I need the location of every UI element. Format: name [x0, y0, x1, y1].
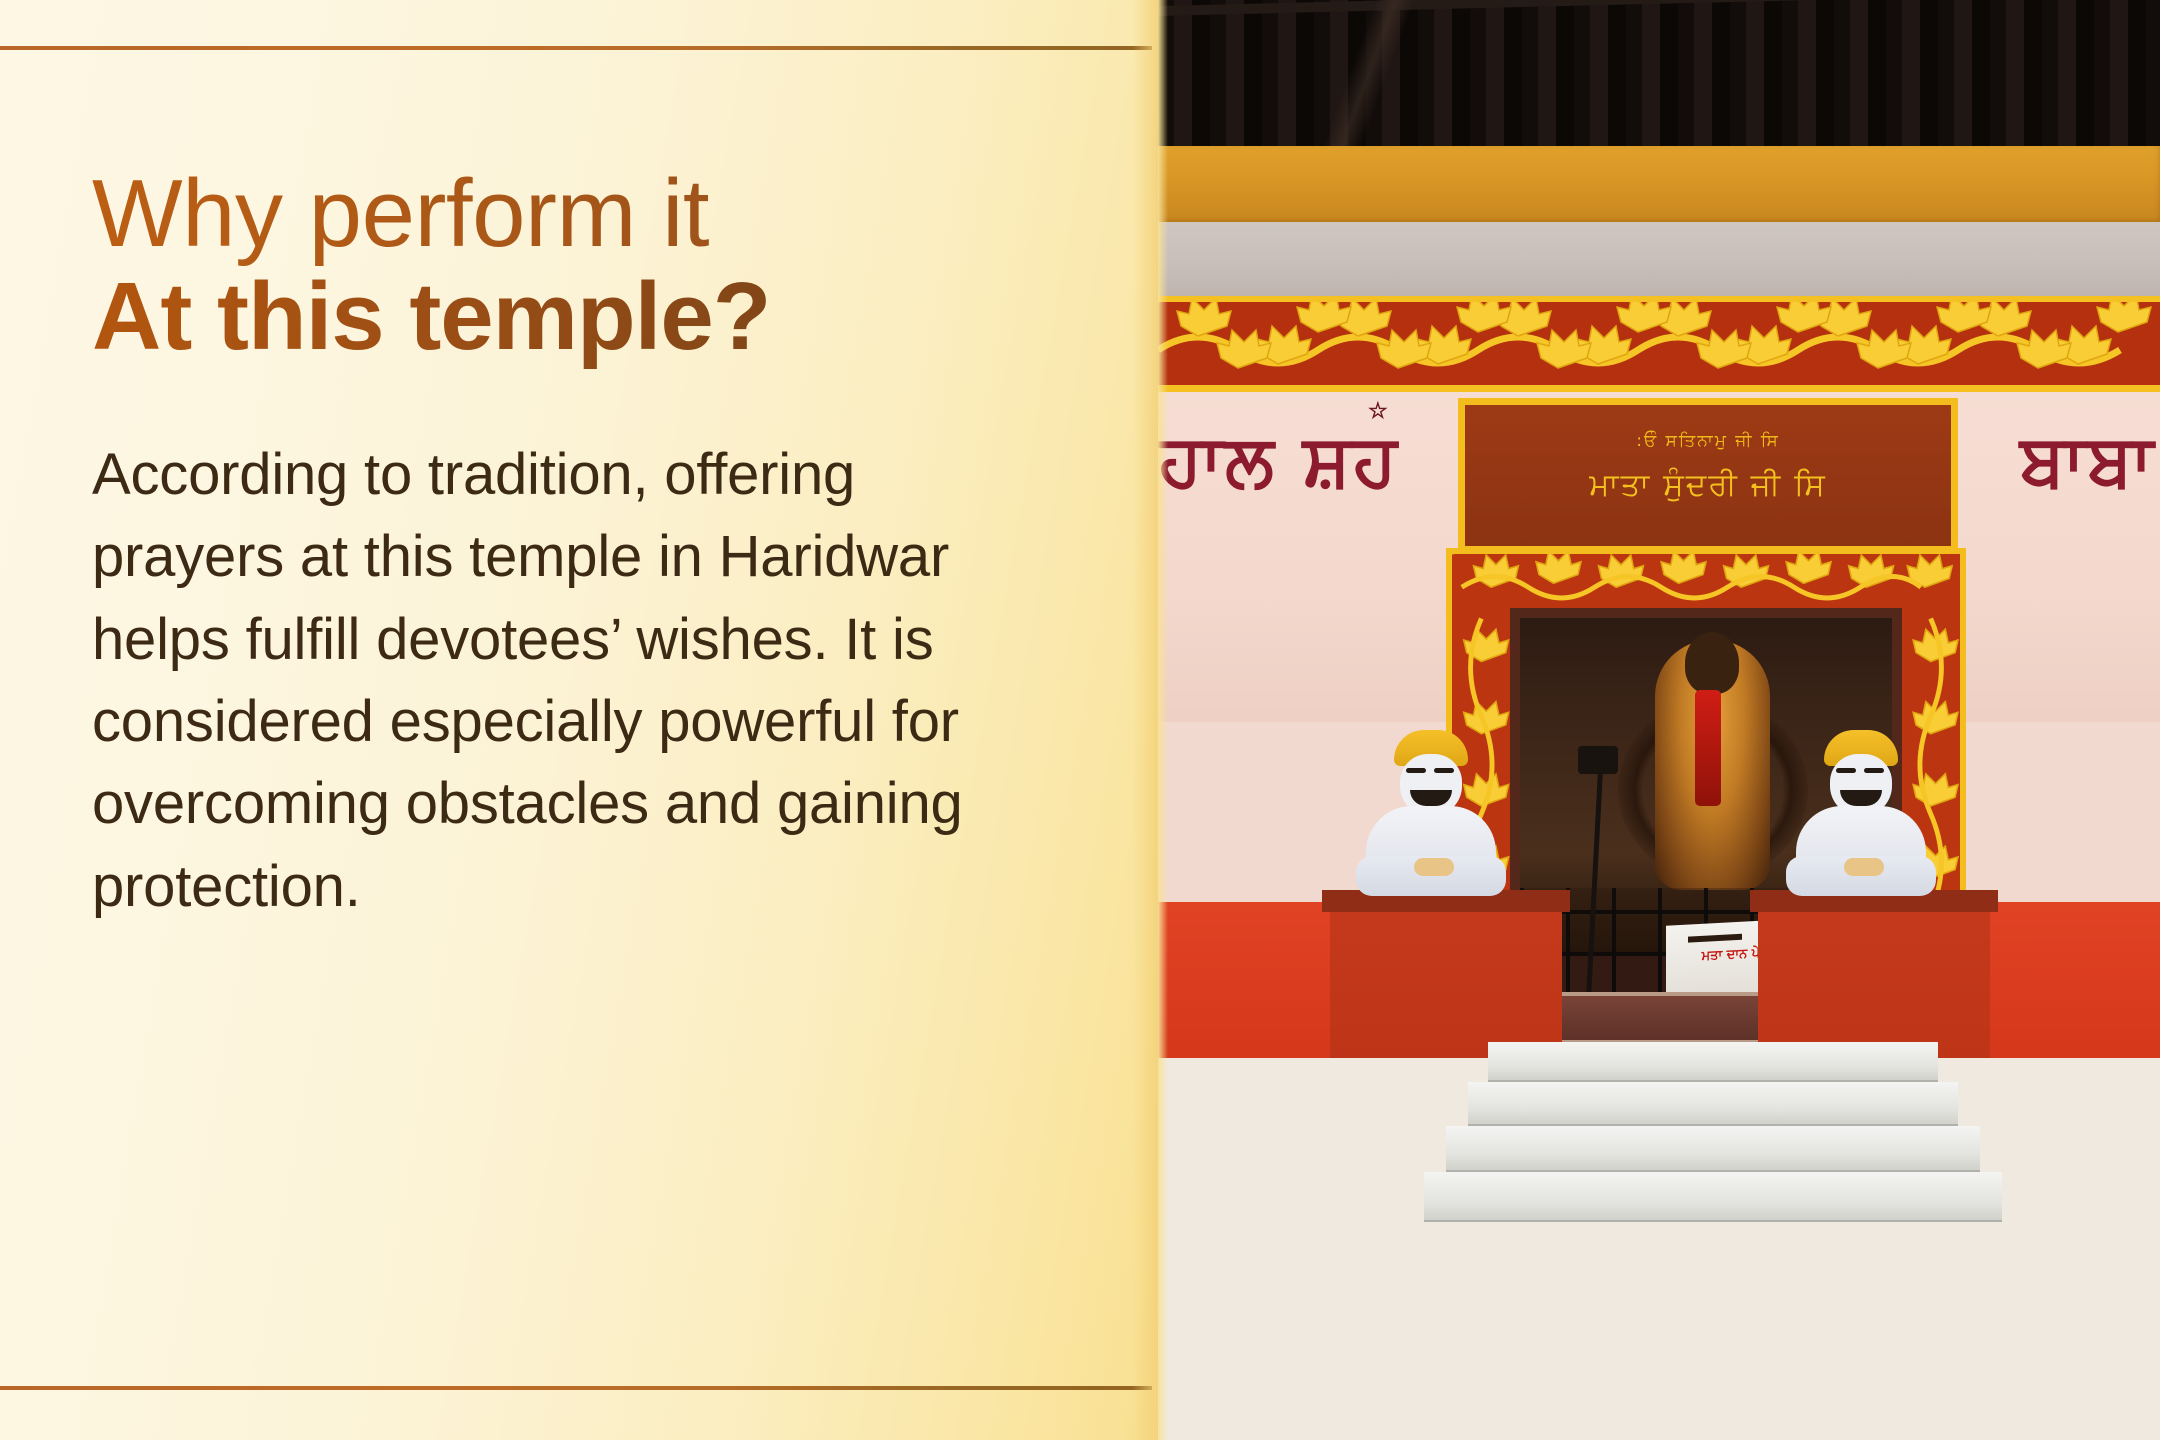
- seated-statue-right: [1786, 730, 1936, 895]
- moustache-icon: [1840, 790, 1882, 806]
- wall-script-right: ਬਾਬਾ: [2020, 418, 2160, 504]
- camera-icon: [1578, 746, 1618, 774]
- step-4: [1424, 1172, 2002, 1222]
- eyebrow-right-icon: [1434, 768, 1454, 773]
- eyebrow-left-icon: [1406, 768, 1426, 773]
- step-1: [1488, 1042, 1938, 1082]
- wall-script-diacritic: ☆: [1368, 398, 1388, 424]
- body-paragraph: According to tradition, offering prayers…: [92, 434, 972, 928]
- idol-red-scarf: [1695, 690, 1721, 806]
- statue-hands: [1844, 858, 1884, 876]
- wall-script-left: ਨਿਹਾਲ ਸ਼ਹ: [1158, 418, 1448, 504]
- slide-canvas: Why perform it At this temple? According…: [0, 0, 2160, 1440]
- plaque-line-1: :ਓੰ ਸਤਿਨਾਮੁ ਜੀ ਸਿ: [1465, 431, 1951, 451]
- text-panel: Why perform it At this temple? According…: [0, 0, 1158, 1440]
- plaque-line-2: ਮਾਤਾ ਸੁੰਦਰੀ ਜੀ ਸਿ: [1465, 467, 1951, 504]
- eyebrow-left-icon: [1836, 768, 1856, 773]
- name-plaque: :ਓੰ ਸਤਿਨਾਮੁ ਜੀ ਸਿ ਮਾਤਾ ਸੁੰਦਰੀ ਜੀ ਸਿ: [1458, 398, 1958, 553]
- temple-photo: ਨਿਹਾਲ ਸ਼ਹ ਬਾਬਾ ☆ :ਓੰ ਸਤਿਨਾਮੁ ਜੀ ਸਿ ਮਾਤਾ …: [1158, 0, 2160, 1440]
- idol-head: [1685, 632, 1739, 694]
- top-divider-rule: [0, 46, 1152, 50]
- step-3: [1446, 1126, 1980, 1172]
- ochre-fascia-band: [1158, 146, 2160, 224]
- seated-statue-left: [1356, 730, 1506, 895]
- moustache-icon: [1410, 790, 1452, 806]
- photo-left-edge-glow: [1158, 0, 1168, 1440]
- eyebrow-right-icon: [1864, 768, 1884, 773]
- bottom-divider-rule: [0, 1386, 1152, 1390]
- leaf-vine-icon: [1158, 302, 2160, 398]
- heading-line-1: Why perform it: [92, 160, 1052, 268]
- roof-beam-diagonal-icon: [1278, 0, 1468, 150]
- statue-hands: [1414, 858, 1454, 876]
- grey-lintel: [1158, 222, 2160, 302]
- text-content-block: Why perform it At this temple? According…: [92, 160, 1052, 928]
- step-2: [1468, 1082, 1958, 1126]
- leaf-frieze-band: [1158, 296, 2160, 392]
- heading-line-2: At this temple?: [92, 262, 1052, 372]
